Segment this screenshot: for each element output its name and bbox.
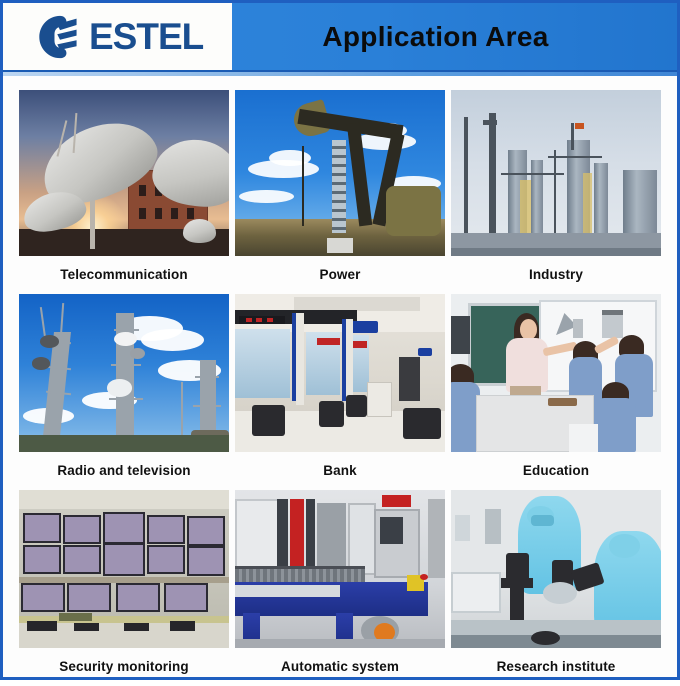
radio-and-television-image — [19, 294, 229, 452]
grid-item-research-institute[interactable]: Research institute — [451, 490, 661, 686]
brand-name: ESTEL — [89, 18, 203, 55]
caption-research-institute: Research institute — [497, 648, 616, 686]
grid-item-automatic-system[interactable]: Automatic system — [235, 490, 445, 686]
caption-telecommunication: Telecommunication — [60, 256, 187, 294]
page-title: Application Area — [322, 21, 548, 53]
power-image — [235, 90, 445, 256]
grid-item-power[interactable]: Power — [235, 90, 445, 294]
estel-circular-e-logo-icon — [37, 14, 83, 60]
security-monitoring-image — [19, 490, 229, 648]
application-area-page: ESTEL Application Area — [0, 0, 680, 680]
grid-item-industry[interactable]: Industry — [451, 90, 661, 294]
grid-item-radio-and-television[interactable]: Radio and television — [19, 294, 229, 490]
research-institute-image — [451, 490, 661, 648]
industry-image — [451, 90, 661, 256]
caption-radio-and-television: Radio and television — [57, 452, 190, 490]
application-grid: Telecommunication — [3, 76, 677, 686]
caption-automatic-system: Automatic system — [281, 648, 399, 686]
caption-education: Education — [523, 452, 589, 490]
telecommunication-image — [19, 90, 229, 256]
page-header: ESTEL Application Area — [3, 3, 677, 72]
caption-security-monitoring: Security monitoring — [59, 648, 188, 686]
grid-item-telecommunication[interactable]: Telecommunication — [19, 90, 229, 294]
brand-logo: ESTEL — [3, 3, 232, 70]
bank-image — [235, 294, 445, 452]
page-title-container: Application Area — [232, 3, 677, 70]
caption-power: Power — [319, 256, 360, 294]
automatic-system-image — [235, 490, 445, 648]
education-image — [451, 294, 661, 452]
caption-bank: Bank — [323, 452, 356, 490]
caption-industry: Industry — [529, 256, 583, 294]
grid-item-education[interactable]: Education — [451, 294, 661, 490]
grid-item-security-monitoring[interactable]: Security monitoring — [19, 490, 229, 686]
grid-item-bank[interactable]: Bank — [235, 294, 445, 490]
